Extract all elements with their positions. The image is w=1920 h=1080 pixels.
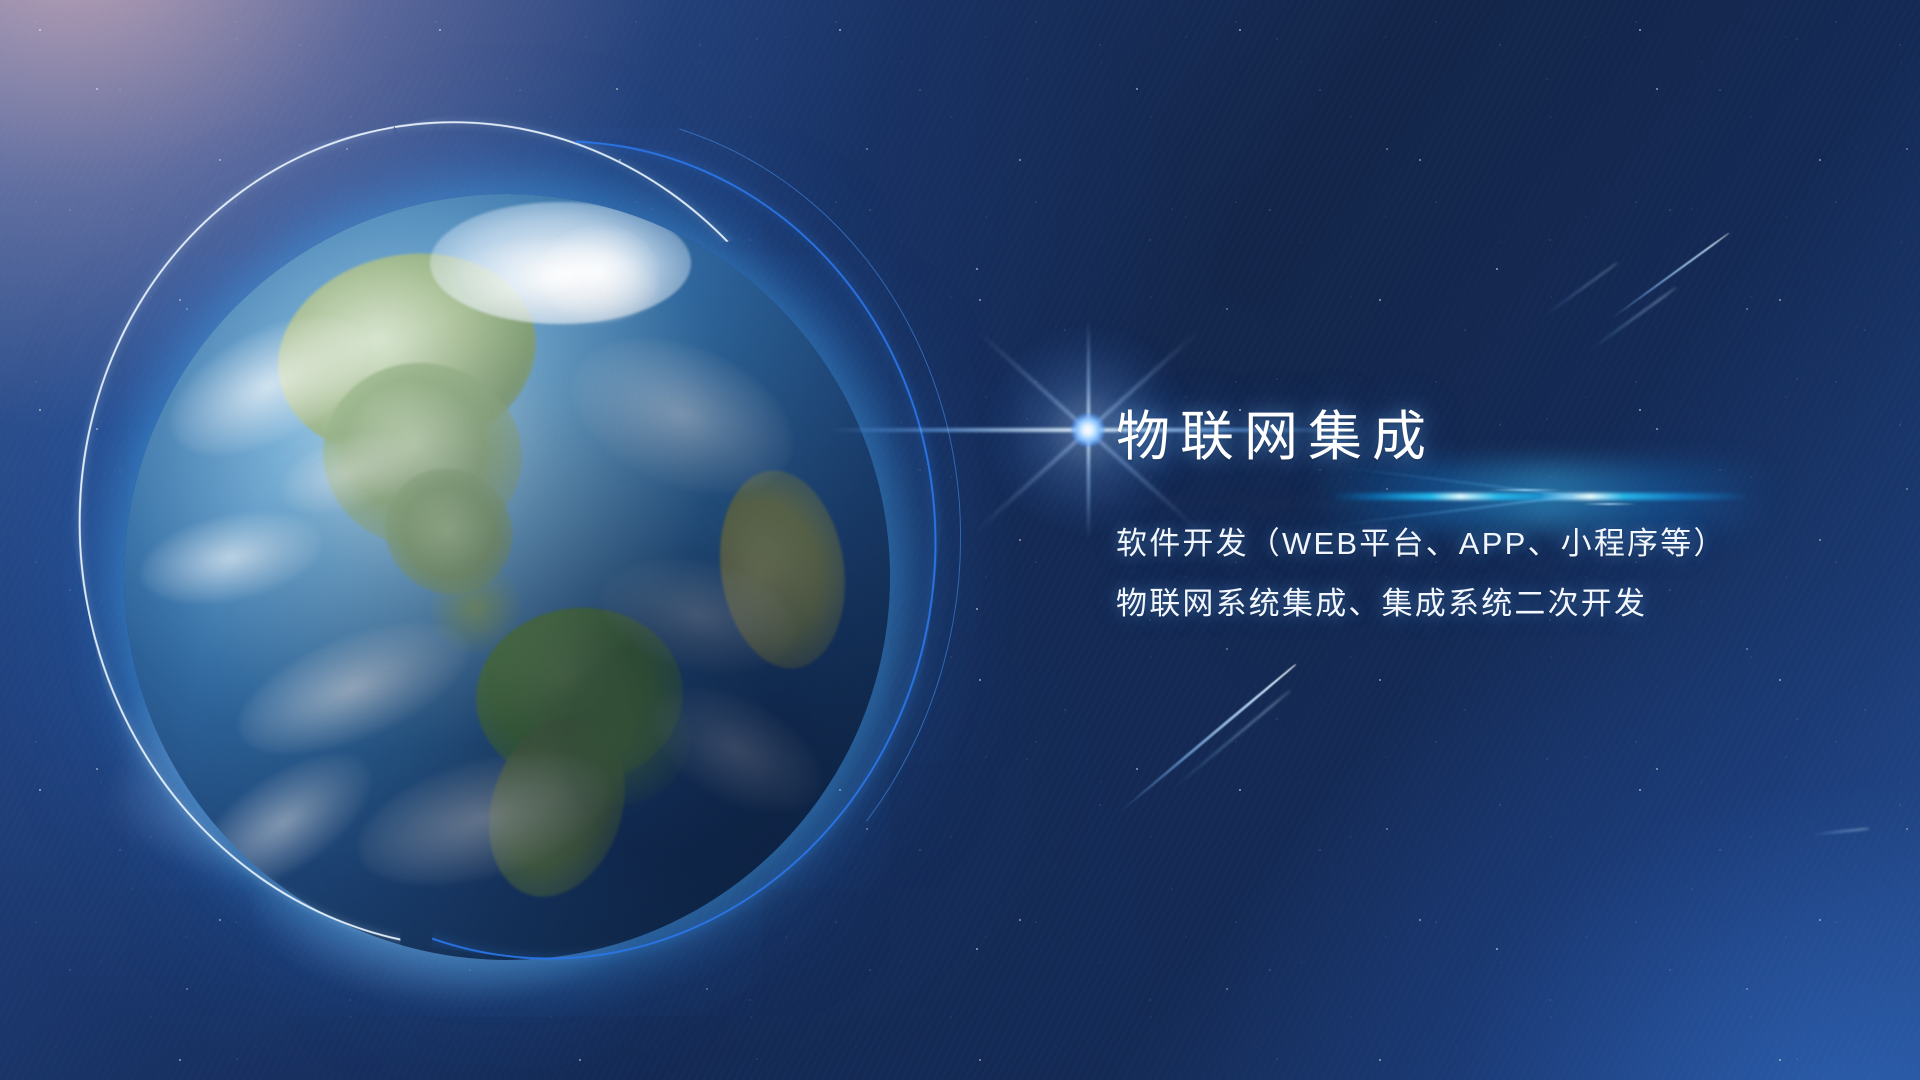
hero-subline-1: 软件开发（WEB平台、APP、小程序等）: [1116, 528, 1856, 559]
meteor-upper-right-2: [1585, 286, 1677, 353]
globe-sphere: [124, 194, 890, 960]
meteor-lower-center: [1117, 663, 1296, 814]
meteor-mid-right: [1539, 262, 1618, 320]
page-title: 物联网集成: [1116, 408, 1856, 466]
hero-copy: 物联网集成 软件开发（WEB平台、APP、小程序等） 物联网系统集成、集成系统二…: [1116, 408, 1856, 619]
flare-ray-vertical: [1087, 320, 1090, 540]
meteor-upper-right: [1607, 232, 1730, 322]
flare-core: [1071, 413, 1105, 447]
meteor-lower-center-2: [1167, 689, 1291, 794]
hero-subline-2: 物联网系统集成、集成系统二次开发: [1116, 588, 1856, 619]
meteor-far-right: [1808, 828, 1870, 837]
hero-banner: 物联网集成 软件开发（WEB平台、APP、小程序等） 物联网系统集成、集成系统二…: [0, 0, 1920, 1080]
globe-shading-overlay: [124, 194, 890, 960]
earth-globe: [124, 194, 890, 960]
